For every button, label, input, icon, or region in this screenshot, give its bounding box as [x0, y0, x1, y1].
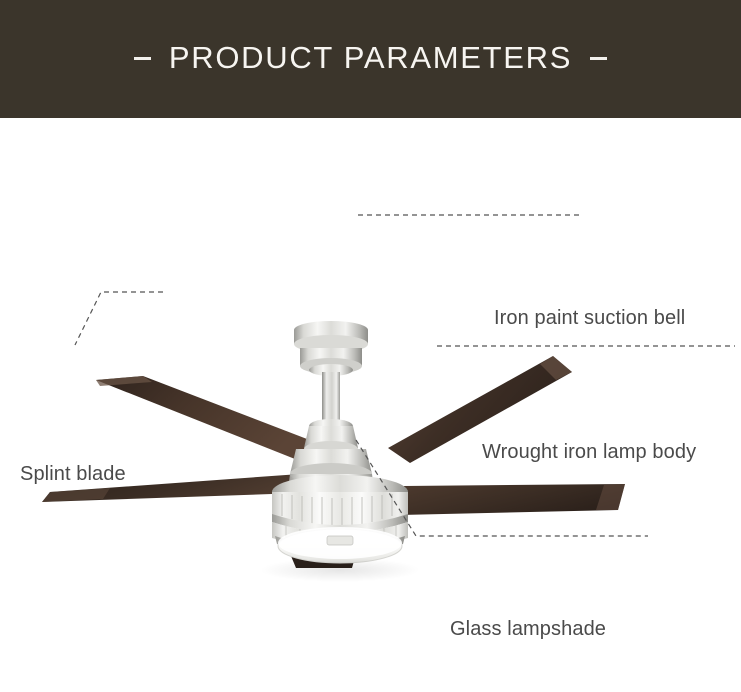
header-inner: PRODUCT PARAMETERS — [134, 40, 607, 76]
glass-lampshade — [272, 475, 408, 563]
product-parameters-page: PRODUCT PARAMETERS — [0, 0, 741, 692]
fan-downrod — [322, 372, 340, 427]
header-dash-right-icon — [590, 57, 607, 60]
page-header: PRODUCT PARAMETERS — [0, 0, 741, 118]
ceiling-mount-canopy — [294, 321, 368, 376]
fan-blade-lower-right — [400, 484, 625, 515]
callout-label-iron-paint-suction-bell: Iron paint suction bell — [494, 307, 685, 330]
callout-label-splint-blade: Splint blade — [20, 463, 126, 486]
product-stage: Iron paint suction bell Wrought iron lam… — [0, 118, 741, 692]
callout-label-wrought-iron-lamp-body: Wrought iron lamp body — [482, 441, 696, 464]
fan-blade-upper-left — [96, 376, 320, 463]
ceiling-fan-image — [0, 118, 741, 692]
callout-label-glass-lampshade: Glass lampshade — [450, 618, 606, 641]
page-title: PRODUCT PARAMETERS — [169, 40, 572, 76]
header-dash-left-icon — [134, 57, 151, 60]
